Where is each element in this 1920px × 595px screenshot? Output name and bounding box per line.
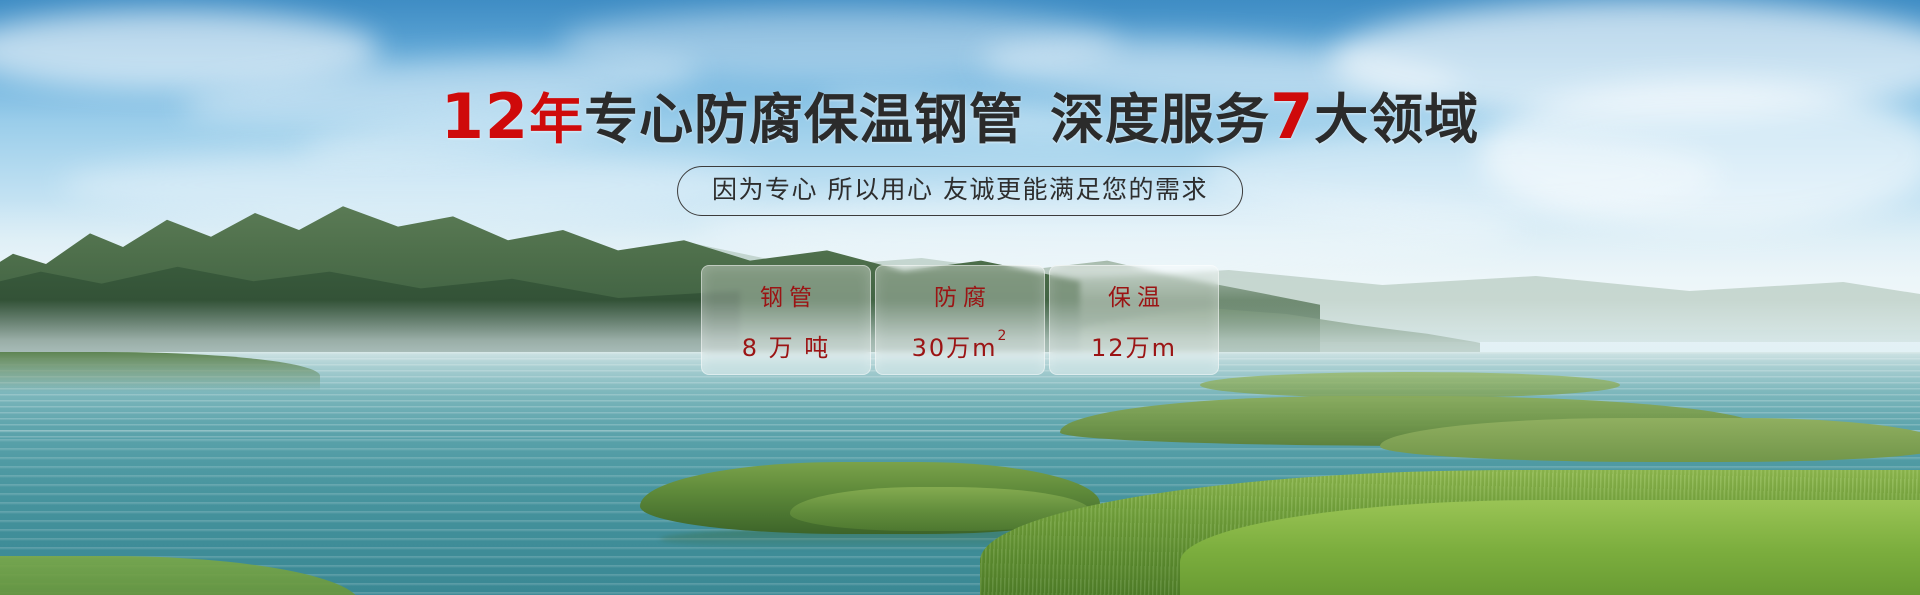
headline-main-part-3: 大领域: [1314, 88, 1479, 151]
stat-card-insulation[interactable]: 保温 12万m: [1049, 265, 1219, 375]
stat-card-value-superscript: 2: [998, 329, 1009, 343]
headline-fields-number: 7: [1270, 80, 1314, 153]
stat-card-value-text: 8 万 吨: [742, 328, 831, 363]
subtitle-pill: 因为专心 所以用心 友诚更能满足您的需求: [677, 166, 1243, 216]
stat-card-value: 8 万 吨: [742, 328, 831, 363]
stat-card-group: 钢管 8 万 吨 防腐 30万m2 保温 12万m: [701, 265, 1219, 375]
stat-card-value: 30万m2: [912, 328, 1009, 363]
headline-main-part-1: 专心防腐保温钢管: [584, 88, 1024, 151]
stat-card-title: 保温: [1102, 278, 1166, 312]
headline-years-number: 12: [441, 80, 529, 153]
headline: 12年专心防腐保温钢管深度服务7大领域: [0, 88, 1920, 149]
subtitle-text: 因为专心 所以用心 友诚更能满足您的需求: [712, 175, 1208, 204]
stat-card-value: 12万m: [1091, 328, 1177, 363]
headline-years-unit: 年: [529, 88, 584, 151]
promo-banner: 12年专心防腐保温钢管深度服务7大领域 因为专心 所以用心 友诚更能满足您的需求…: [0, 0, 1920, 595]
stat-card-title: 钢管: [754, 278, 818, 312]
stat-card-anticorrosion[interactable]: 防腐 30万m2: [875, 265, 1045, 375]
stat-card-title: 防腐: [928, 278, 992, 312]
stat-card-steel-pipe[interactable]: 钢管 8 万 吨: [701, 265, 871, 375]
headline-main-part-2: 深度服务: [1050, 88, 1270, 151]
stat-card-value-text: 30万m: [912, 328, 998, 363]
banner-content: 12年专心防腐保温钢管深度服务7大领域 因为专心 所以用心 友诚更能满足您的需求…: [0, 0, 1920, 595]
stat-card-value-text: 12万m: [1091, 328, 1177, 363]
